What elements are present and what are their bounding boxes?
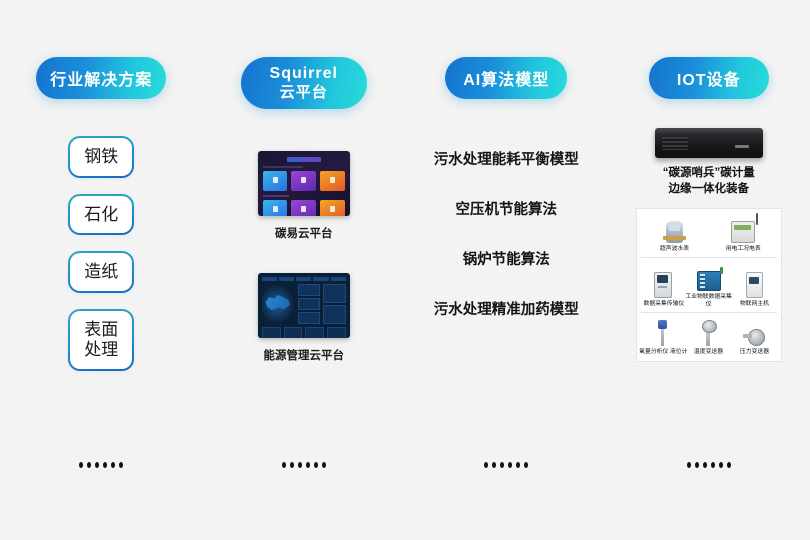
header-label-line1: Squirrel: [270, 64, 338, 84]
infographic-board: 行业解决方案 钢铁 石化 造纸 表面 处理 Squir: [0, 0, 810, 540]
device-data-acquisition-transmitter[interactable]: 数据采集传输仪: [641, 270, 686, 308]
device-row-3: 氧量分析仪 液位计 温度变送器 压力变送器: [641, 312, 777, 356]
column-industry-solutions: 行业解决方案 钢铁 石化 造纸 表面 处理: [0, 0, 203, 540]
pressure-transmitter-icon: [743, 318, 765, 346]
device-label: 用电工况电表: [725, 246, 760, 254]
algorithm-item-boiler[interactable]: 锅炉节能算法: [463, 248, 550, 269]
platform-list: 碳易云平台 能源管理云平台: [258, 151, 350, 363]
device-industrial-iot-collector[interactable]: 工业物联数据采集仪: [686, 263, 731, 308]
column-header-ai-algorithms[interactable]: AI算法模型: [445, 57, 567, 99]
device-row-2: 数据采集传输仪 工业物联数据采集仪 物联网主机: [641, 257, 777, 308]
device-grid-panel: 超声波水表 用电工况电表 数据采集传输仪 工业物联数据采集仪: [636, 208, 782, 362]
algorithm-item-wastewater-energy-balance[interactable]: 污水处理能耗平衡模型: [434, 148, 579, 169]
industry-item-petrochemical[interactable]: 石化: [68, 194, 134, 236]
probe-icon: [658, 318, 668, 346]
column-squirrel-cloud: Squirrel 云平台 碳易云平台: [203, 0, 406, 540]
platform-label: 能源管理云平台: [264, 347, 345, 363]
industry-box-list: 钢铁 石化 造纸 表面 处理: [68, 136, 134, 371]
device-temperature-transmitter[interactable]: 温度变送器: [686, 318, 731, 356]
water-meter-icon: [666, 215, 683, 243]
industry-item-label-line2: 处理: [84, 340, 118, 360]
device-oxygen-analyzer-level-gauge[interactable]: 氧量分析仪 液位计: [641, 318, 686, 356]
ellipsis-algorithms: [484, 462, 528, 468]
energy-platform-screenshot: [258, 273, 350, 338]
carbon-cloud-screenshot: [258, 151, 350, 216]
iot-host-icon: [746, 270, 763, 298]
device-ultrasonic-water-meter[interactable]: 超声波水表: [652, 215, 698, 253]
iot-module-icon: [697, 263, 721, 291]
industry-item-surface-treatment[interactable]: 表面 处理: [68, 309, 134, 371]
device-row-1: 超声波水表 用电工况电表: [641, 215, 777, 253]
header-label-line2: 云平台: [280, 84, 328, 103]
device-label: 温度变送器: [694, 349, 723, 357]
device-label: 工业物联数据采集仪: [684, 293, 733, 308]
ellipsis-cloud: [282, 462, 326, 468]
flagship-label-line2: 边缘一体化装备: [663, 182, 755, 198]
header-label: AI算法模型: [463, 66, 549, 90]
column-header-industry-solutions[interactable]: 行业解决方案: [36, 57, 166, 99]
platform-label: 碳易云平台: [275, 225, 333, 241]
industry-item-label: 造纸: [84, 262, 118, 282]
rack-server-icon: [655, 128, 763, 158]
algorithm-item-wastewater-dosing[interactable]: 污水处理精准加药模型: [434, 298, 579, 319]
header-label: IOT设备: [677, 66, 741, 90]
header-label: 行业解决方案: [50, 66, 152, 90]
column-iot-devices: IOT设备 “碳源哨兵”碳计量 边缘一体化装备 超声波水表 用电工况电表: [608, 0, 810, 540]
industry-item-label-line1: 表面: [84, 320, 118, 340]
flagship-label-line1: “碳源哨兵”碳计量: [663, 166, 755, 182]
device-label: 超声波水表: [660, 246, 689, 254]
platform-energy-management[interactable]: 能源管理云平台: [258, 273, 350, 363]
flagship-device-label: “碳源哨兵”碳计量 边缘一体化装备: [663, 166, 755, 197]
cabinet-icon: [654, 270, 672, 298]
device-iot-host[interactable]: 物联网主机: [731, 270, 776, 308]
iot-content: “碳源哨兵”碳计量 边缘一体化装备 超声波水表 用电工况电表: [608, 128, 810, 362]
temperature-transmitter-icon: [702, 318, 715, 346]
electric-meter-icon: [731, 215, 755, 243]
algorithm-item-air-compressor[interactable]: 空压机节能算法: [456, 198, 558, 219]
column-header-iot-devices[interactable]: IOT设备: [649, 57, 769, 99]
device-power-condition-meter[interactable]: 用电工况电表: [720, 215, 766, 253]
algorithm-list: 污水处理能耗平衡模型 空压机节能算法 锅炉节能算法 污水处理精准加药模型: [405, 148, 608, 319]
industry-item-paper[interactable]: 造纸: [68, 251, 134, 293]
device-label: 物联网主机: [739, 301, 768, 309]
column-header-squirrel-cloud[interactable]: Squirrel 云平台: [241, 57, 367, 109]
device-label: 氧量分析仪 液位计: [639, 349, 687, 357]
platform-carbon-cloud[interactable]: 碳易云平台: [258, 151, 350, 241]
column-ai-algorithms: AI算法模型 污水处理能耗平衡模型 空压机节能算法 锅炉节能算法 污水处理精准加…: [405, 0, 608, 540]
ellipsis-industry: [79, 462, 123, 468]
ellipsis-iot: [687, 462, 731, 468]
industry-item-steel[interactable]: 钢铁: [68, 136, 134, 178]
device-label: 数据采集传输仪: [643, 301, 684, 309]
device-label: 压力变送器: [739, 349, 768, 357]
industry-item-label: 钢铁: [84, 147, 118, 167]
industry-item-label: 石化: [84, 205, 118, 225]
device-pressure-transmitter[interactable]: 压力变送器: [731, 318, 776, 356]
